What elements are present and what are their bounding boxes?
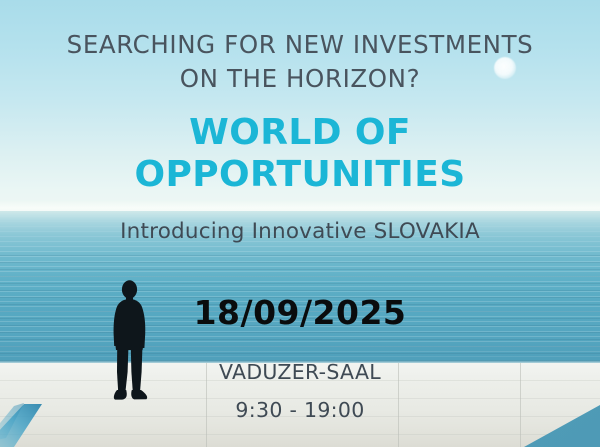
poster-headline: SEARCHING FOR NEW INVESTMENTS ON THE HOR… [0, 28, 600, 96]
headline-line-2: ON THE HORIZON? [0, 62, 600, 96]
event-poster: SEARCHING FOR NEW INVESTMENTS ON THE HOR… [0, 0, 600, 447]
headline-line-1: SEARCHING FOR NEW INVESTMENTS [67, 30, 534, 59]
event-date: 18/09/2025 [0, 293, 600, 332]
poster-title: WORLD OF OPPORTUNITIES [0, 112, 600, 196]
title-line-1: WORLD OF [189, 112, 411, 153]
event-venue: VADUZER-SAAL [0, 360, 600, 384]
event-time: 9:30 - 19:00 [0, 398, 600, 422]
poster-subtitle: Introducing Innovative SLOVAKIA [0, 219, 600, 244]
title-line-2: OPPORTUNITIES [0, 154, 600, 196]
